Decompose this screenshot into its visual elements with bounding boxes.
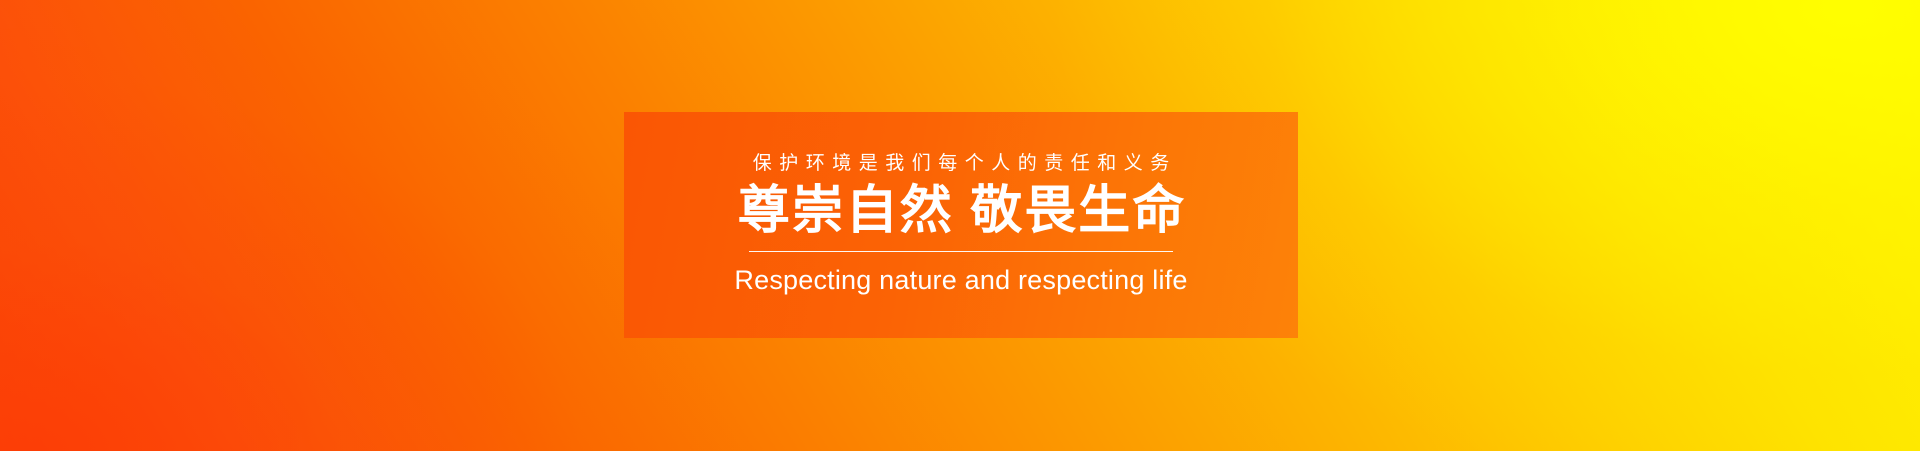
- slogan-headline-text: 尊崇自然 敬畏生命: [736, 184, 1186, 239]
- slogan-panel: 保护环境是我们每个人的责任和义务 尊崇自然 敬畏生命 Respecting na…: [624, 112, 1298, 338]
- slogan-panel-content: 保护环境是我们每个人的责任和义务 尊崇自然 敬畏生命 Respecting na…: [650, 154, 1272, 295]
- slogan-kicker-text: 保护环境是我们每个人的责任和义务: [745, 154, 1177, 173]
- slogan-subline-text: Respecting nature and respecting life: [734, 266, 1187, 295]
- slogan-divider: [749, 251, 1173, 252]
- banner-stage: 保护环境是我们每个人的责任和义务 尊崇自然 敬畏生命 Respecting na…: [0, 0, 1920, 451]
